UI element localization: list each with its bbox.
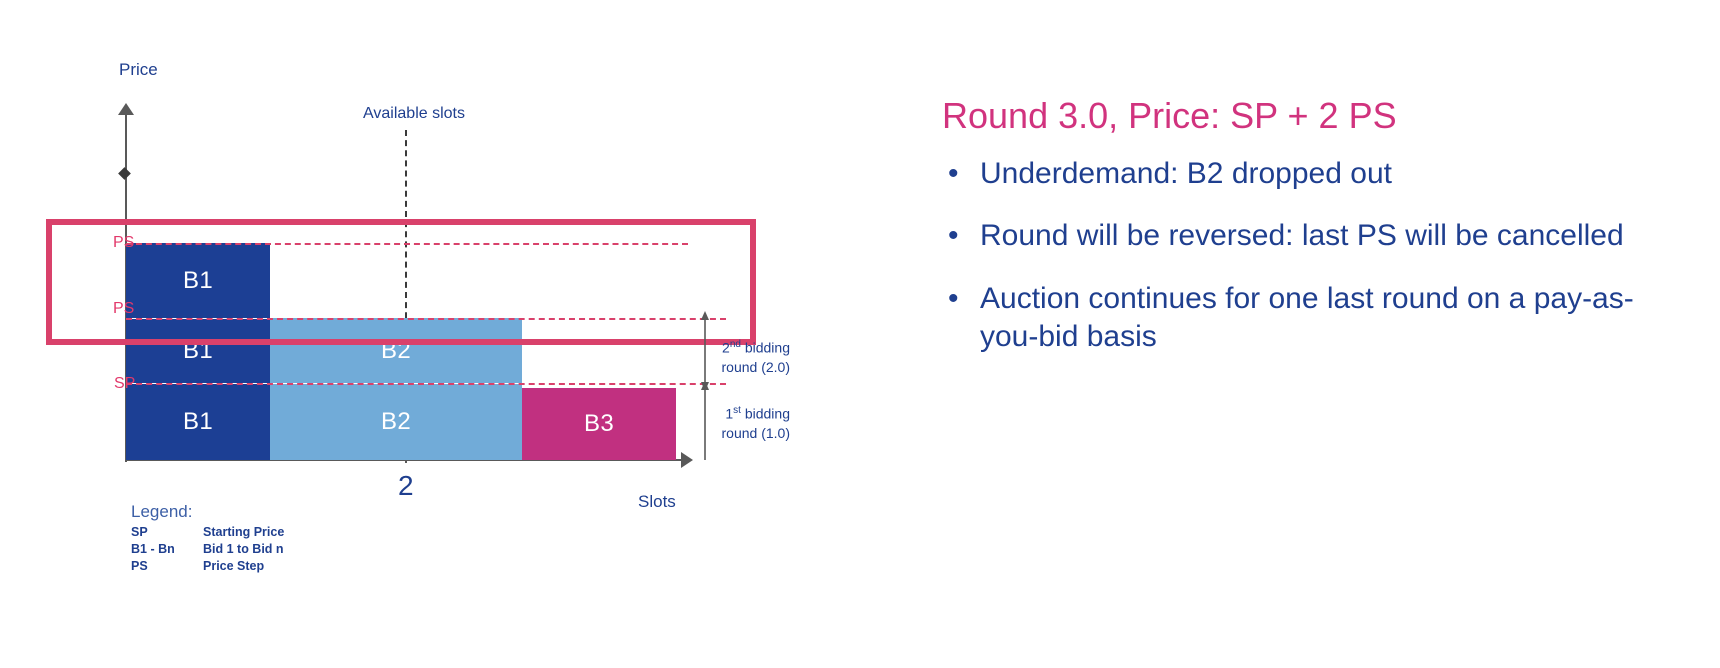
legend-key-ps: PS <box>131 558 203 575</box>
bar-segment-b2-round1: B2 <box>270 383 522 460</box>
x-tick-label-2: 2 <box>398 470 414 502</box>
legend-row: B1 - Bn Bid 1 to Bid n <box>131 541 284 558</box>
round2-note: 2nd bidding round (2.0) <box>610 338 790 376</box>
bullet-list: • Underdemand: B2 dropped out • Round wi… <box>940 155 1680 381</box>
legend-key-bids: B1 - Bn <box>131 541 203 558</box>
round1-line1-rest: bidding <box>741 406 790 422</box>
y-axis-title: Price <box>119 60 158 80</box>
legend-title: Legend: <box>131 502 284 522</box>
legend-key-sp: SP <box>131 524 203 541</box>
explanation-panel: Round 3.0, Price: SP + 2 PS • Underdeman… <box>920 0 1720 668</box>
list-item: • Underdemand: B2 dropped out <box>940 155 1680 193</box>
round1-line2: round (1.0) <box>722 425 790 441</box>
bullet-marker-icon: • <box>940 280 980 357</box>
legend: Legend: SP Starting Price B1 - Bn Bid 1 … <box>131 502 284 575</box>
available-slots-label: Available slots <box>363 105 465 123</box>
legend-value-ps: Price Step <box>203 558 264 575</box>
price-level-line-sp <box>126 383 726 385</box>
legend-value-bids: Bid 1 to Bid n <box>203 541 284 558</box>
bar-segment-b1-round1: B1 <box>126 383 270 460</box>
highlight-rectangle <box>46 219 756 345</box>
list-item: • Round will be reversed: last PS will b… <box>940 217 1680 255</box>
round2-ordinal: 2 <box>722 340 730 356</box>
price-level-tag-sp: SP <box>114 375 135 393</box>
panel-title: Round 3.0, Price: SP + 2 PS <box>942 95 1397 137</box>
legend-value-sp: Starting Price <box>203 524 284 541</box>
legend-row: SP Starting Price <box>131 524 284 541</box>
legend-row: PS Price Step <box>131 558 284 575</box>
round1-ordinal-suffix: st <box>733 405 741 416</box>
round2-ordinal-suffix: nd <box>730 339 741 350</box>
y-axis-diamond-marker-icon <box>118 167 131 180</box>
auction-chart: Price Slots Available slots B1 B1 B1 B2 … <box>0 0 900 668</box>
bullet-text-3: Auction continues for one last round on … <box>980 280 1680 357</box>
bullet-text-2: Round will be reversed: last PS will be … <box>980 217 1624 255</box>
round1-ordinal: 1 <box>725 406 733 422</box>
x-axis-title: Slots <box>638 492 676 512</box>
round2-line2: round (2.0) <box>722 359 790 375</box>
y-axis-arrow-icon <box>118 103 134 115</box>
slide-canvas: Price Slots Available slots B1 B1 B1 B2 … <box>0 0 1720 668</box>
round2-line1-rest: bidding <box>741 340 790 356</box>
x-axis-arrow-icon <box>681 452 693 468</box>
round1-note: 1st bidding round (1.0) <box>610 404 790 442</box>
bullet-marker-icon: • <box>940 155 980 193</box>
bullet-marker-icon: • <box>940 217 980 255</box>
bullet-text-1: Underdemand: B2 dropped out <box>980 155 1392 193</box>
list-item: • Auction continues for one last round o… <box>940 280 1680 357</box>
